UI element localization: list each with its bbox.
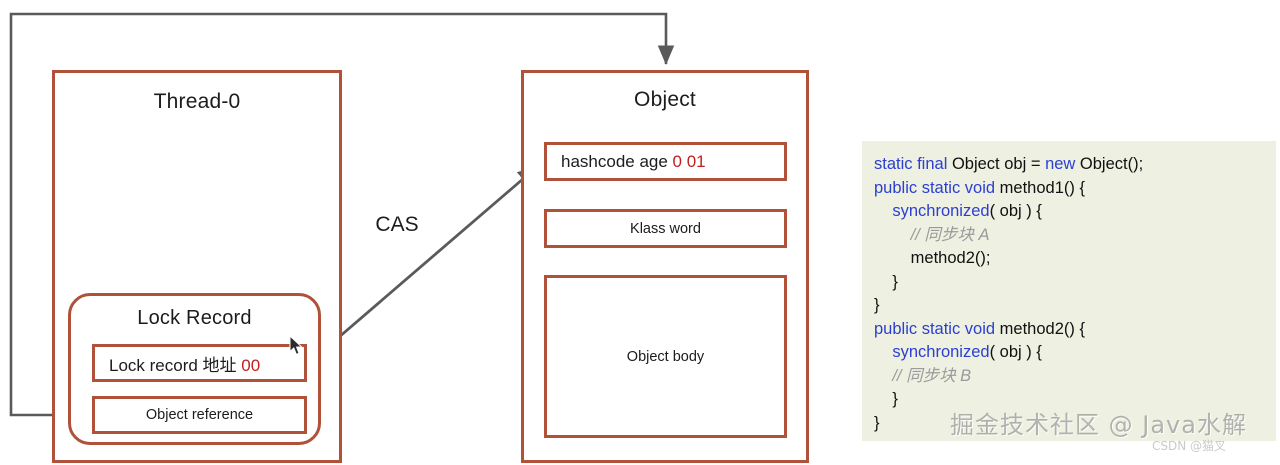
code-line: synchronized( obj ) { xyxy=(874,341,1276,365)
code-line: public static void method2() { xyxy=(874,318,1276,342)
lock-record-address-value: 00 xyxy=(241,356,260,375)
code-line: synchronized( obj ) { xyxy=(874,200,1276,224)
object-reference-label: Object reference xyxy=(146,407,253,423)
code-token: ( obj ) { xyxy=(990,202,1042,220)
code-token: method1() { xyxy=(1000,179,1085,197)
code-line: // 同步块 A xyxy=(874,224,1276,248)
object-body-slot: Object body xyxy=(544,275,787,438)
mark-word-value: 0 01 xyxy=(673,152,706,171)
lock-record-title: Lock Record xyxy=(68,307,321,330)
watermark-subtext: CSDN @猫叉 xyxy=(1152,437,1226,454)
code-token: public static void xyxy=(874,179,1000,197)
thread-title: Thread-0 xyxy=(52,90,342,114)
code-line: public static void method1() { xyxy=(874,177,1276,201)
code-token: } xyxy=(874,296,880,314)
code-lines: static final Object obj = new Object();p… xyxy=(874,153,1276,435)
mouse-cursor-icon xyxy=(289,335,305,357)
code-line: } xyxy=(874,271,1276,295)
klass-word-label: Klass word xyxy=(630,221,701,237)
code-token: Object(); xyxy=(1080,155,1143,173)
code-token: // 同步块 A xyxy=(874,226,990,244)
object-reference-slot: Object reference xyxy=(92,396,307,434)
code-token: } xyxy=(874,390,898,408)
watermark-text: 掘金技术社区 @ Java水解 xyxy=(950,405,1247,440)
object-title: Object xyxy=(521,88,809,112)
code-token: public static void xyxy=(874,320,1000,338)
mark-word-slot: hashcode age 0 01 xyxy=(544,142,787,181)
code-token: synchronized xyxy=(892,202,989,220)
code-token: method2() { xyxy=(1000,320,1085,338)
code-token: } xyxy=(874,273,898,291)
code-line: // 同步块 B xyxy=(874,365,1276,389)
diagram-canvas: Thread-0 Lock Record Lock record 地址 00 O… xyxy=(0,0,1280,465)
object-body-label: Object body xyxy=(627,349,704,365)
code-token: } xyxy=(874,414,880,432)
cas-arrow xyxy=(310,166,538,362)
code-token: method2(); xyxy=(874,249,990,267)
mark-word-label: hashcode age 0 01 xyxy=(547,152,784,172)
code-token: static final xyxy=(874,155,952,173)
lock-record-address-slot: Lock record 地址 00 xyxy=(92,344,307,382)
code-line: static final Object obj = new Object(); xyxy=(874,153,1276,177)
code-panel: static final Object obj = new Object();p… xyxy=(862,141,1276,441)
klass-word-slot: Klass word xyxy=(544,209,787,248)
code-token: Object obj = xyxy=(952,155,1045,173)
code-token xyxy=(874,202,892,220)
code-token: ( obj ) { xyxy=(990,343,1042,361)
code-token: synchronized xyxy=(892,343,989,361)
lock-record-address-label: Lock record 地址 00 xyxy=(95,351,304,376)
code-token xyxy=(874,343,892,361)
code-line: method2(); xyxy=(874,247,1276,271)
cas-label: CAS xyxy=(352,213,442,237)
code-token: new xyxy=(1045,155,1080,173)
code-token: // 同步块 B xyxy=(874,367,971,385)
code-line: } xyxy=(874,294,1276,318)
